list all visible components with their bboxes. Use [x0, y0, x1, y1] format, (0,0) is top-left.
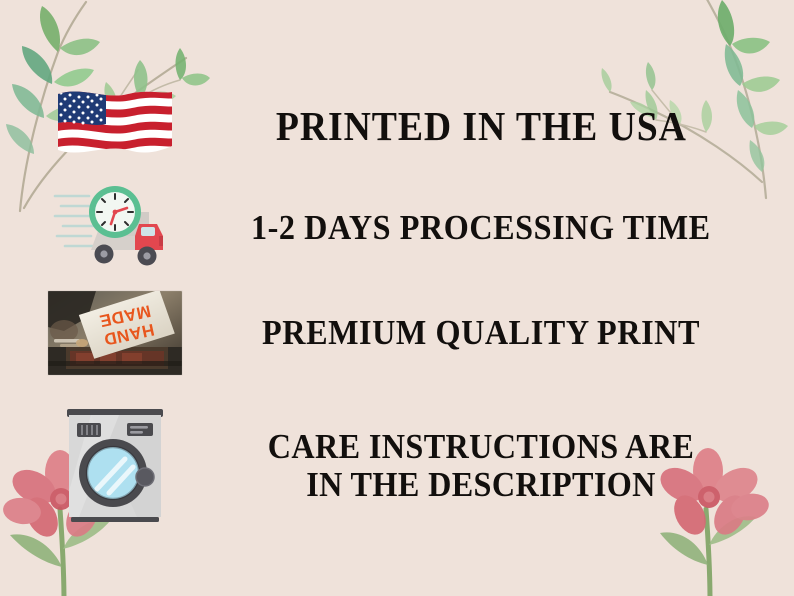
- headline-processing-time: 1-2 DAYS PROCESSING TIME: [251, 209, 711, 247]
- text-cell-premium-quality: PREMIUM QUALITY PRINT: [230, 314, 794, 352]
- headline-care-instructions: CARE INSTRUCTIONS ARE IN THE DESCRIPTION: [265, 428, 697, 504]
- info-row-printed-in-usa: PRINTED IN THE USA: [0, 78, 794, 174]
- care-line-2: IN THE DESCRIPTION: [306, 465, 656, 504]
- care-line-1: CARE INSTRUCTIONS ARE: [268, 427, 694, 466]
- usa-flag-icon: [54, 86, 176, 166]
- icon-cell-delivery: [0, 178, 230, 278]
- infographic-canvas: PRINTED IN THE USA: [0, 0, 794, 596]
- headline-premium-quality: PREMIUM QUALITY PRINT: [262, 314, 700, 352]
- fast-delivery-truck-clock-icon: [53, 178, 177, 278]
- text-cell-processing-time: 1-2 DAYS PROCESSING TIME: [230, 209, 794, 247]
- text-cell-printed-in-usa: PRINTED IN THE USA: [230, 104, 794, 148]
- washing-machine-icon: [61, 405, 169, 527]
- text-cell-care-instructions: CARE INSTRUCTIONS ARE IN THE DESCRIPTION: [230, 428, 794, 504]
- icon-cell-print-photo: HAND MADE: [0, 286, 230, 380]
- info-row-premium-quality: HAND MADE PREMIUM QUALITY PRINT: [0, 286, 794, 380]
- icon-cell-flag: [0, 78, 230, 174]
- icon-cell-washing-machine: [0, 396, 230, 536]
- info-row-processing-time: 1-2 DAYS PROCESSING TIME: [0, 178, 794, 278]
- headline-printed-in-usa: PRINTED IN THE USA: [276, 104, 687, 148]
- screen-print-photo: HAND MADE: [48, 291, 182, 375]
- info-row-care-instructions: CARE INSTRUCTIONS ARE IN THE DESCRIPTION: [0, 396, 794, 536]
